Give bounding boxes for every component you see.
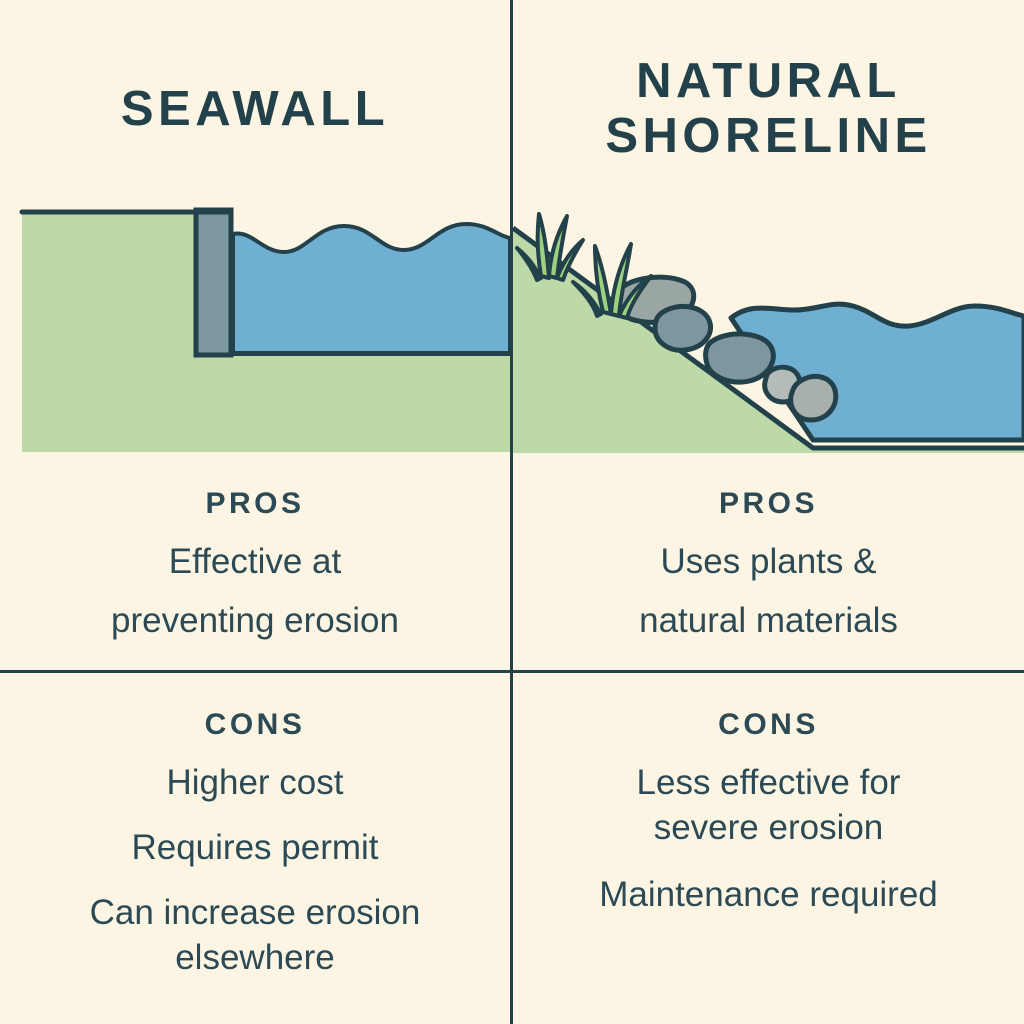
vertical-divider	[510, 0, 513, 1024]
natural-shoreline-illustration	[513, 190, 1024, 465]
natural-shoreline-cons-line-2: severe erosion	[513, 805, 1024, 850]
seawall-cons-line-1: Higher cost	[0, 760, 510, 805]
seawall-pros-heading: PROS	[0, 487, 510, 521]
natural-shoreline-pros-heading: PROS	[513, 487, 1024, 521]
natural-shoreline-cons-line-1: Less effective for	[513, 760, 1024, 805]
natural-shoreline-cons-section: CONS Less effective for severe erosion M…	[513, 708, 1024, 917]
quadrant-seawall-bottom: CONS Higher cost Requires permit Can inc…	[0, 673, 510, 1024]
seawall-cons-section: CONS Higher cost Requires permit Can inc…	[0, 708, 510, 980]
seawall-cons-heading: CONS	[0, 708, 510, 742]
seawall-pros-section: PROS Effective at preventing erosion	[0, 487, 510, 643]
quadrant-natural-shoreline-bottom: CONS Less effective for severe erosion M…	[513, 673, 1024, 1024]
seawall-pros-line-2: preventing erosion	[0, 598, 510, 643]
natural-shoreline-pros-line-1: Uses plants &	[513, 539, 1024, 584]
quadrant-natural-shoreline-top: NATURAL SHORELINE	[513, 0, 1024, 670]
seawall-illustration	[0, 190, 510, 465]
natural-shoreline-cons-heading: CONS	[513, 708, 1024, 742]
infographic-root: SEAWALL PROS Effective at preventing ero…	[0, 0, 1024, 1024]
natural-shoreline-pros-section: PROS Uses plants & natural materials	[513, 487, 1024, 643]
quadrant-seawall-top: SEAWALL PROS Effective at preventing ero…	[0, 0, 510, 670]
seawall-cons-line-2: Requires permit	[0, 825, 510, 870]
page-title-line-2: SHORELINE	[513, 109, 1024, 164]
horizontal-divider	[0, 670, 1024, 673]
seawall-cons-line-3: Can increase erosion	[0, 890, 510, 935]
natural-shoreline-cons-line-3: Maintenance required	[513, 872, 1024, 917]
page-title-natural-shoreline: NATURAL SHORELINE	[513, 54, 1024, 164]
page-title-seawall: SEAWALL	[0, 82, 510, 137]
natural-shoreline-pros-line-2: natural materials	[513, 598, 1024, 643]
seawall-pros-line-1: Effective at	[0, 539, 510, 584]
page-title-line-1: NATURAL	[513, 54, 1024, 109]
seawall-cons-line-4: elsewhere	[0, 935, 510, 980]
